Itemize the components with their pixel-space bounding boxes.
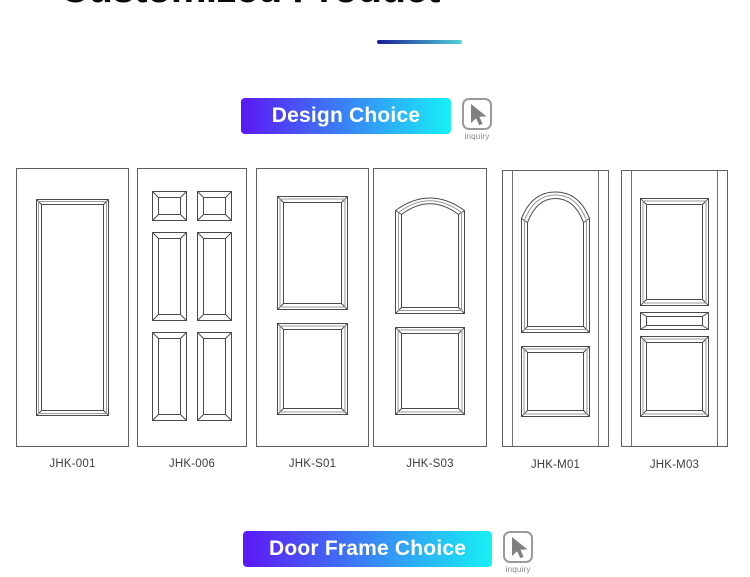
door-drawing-jhk-s01 [256, 168, 369, 447]
door-gallery: JHK-001 [0, 0, 750, 490]
cursor-arrow-icon[interactable] [503, 531, 533, 563]
door-drawing-jhk-s03 [373, 168, 487, 447]
door-label: JHK-M03 [621, 459, 728, 471]
door-drawing-jhk-m01 [502, 170, 609, 447]
door-label: JHK-M01 [502, 459, 609, 471]
door-card-jhk-s03[interactable]: JHK-S03 [373, 168, 487, 447]
door-drawing-jhk-m03 [621, 170, 728, 447]
door-card-jhk-m01[interactable]: JHK-M01 [502, 170, 609, 447]
door-card-jhk-006[interactable]: JHK-006 [137, 168, 247, 447]
door-frame-choice-section: Door Frame Choice inquiry [243, 531, 536, 575]
door-card-jhk-m03[interactable]: JHK-M03 [621, 170, 728, 447]
door-drawing-jhk-001 [16, 168, 129, 447]
inquiry-door-frame-choice[interactable]: inquiry [500, 531, 536, 575]
door-frame-choice-button[interactable]: Door Frame Choice [243, 531, 492, 567]
door-card-jhk-s01[interactable]: JHK-S01 [256, 168, 369, 447]
door-label: JHK-S01 [256, 458, 369, 470]
cursor-arrow-glyph [511, 537, 530, 559]
door-card-jhk-001[interactable]: JHK-001 [16, 168, 129, 447]
door-label: JHK-001 [16, 458, 129, 470]
door-label: JHK-S03 [373, 458, 487, 470]
inquiry-label: inquiry [506, 565, 531, 575]
door-drawing-jhk-006 [137, 168, 247, 447]
door-label: JHK-006 [137, 458, 247, 470]
